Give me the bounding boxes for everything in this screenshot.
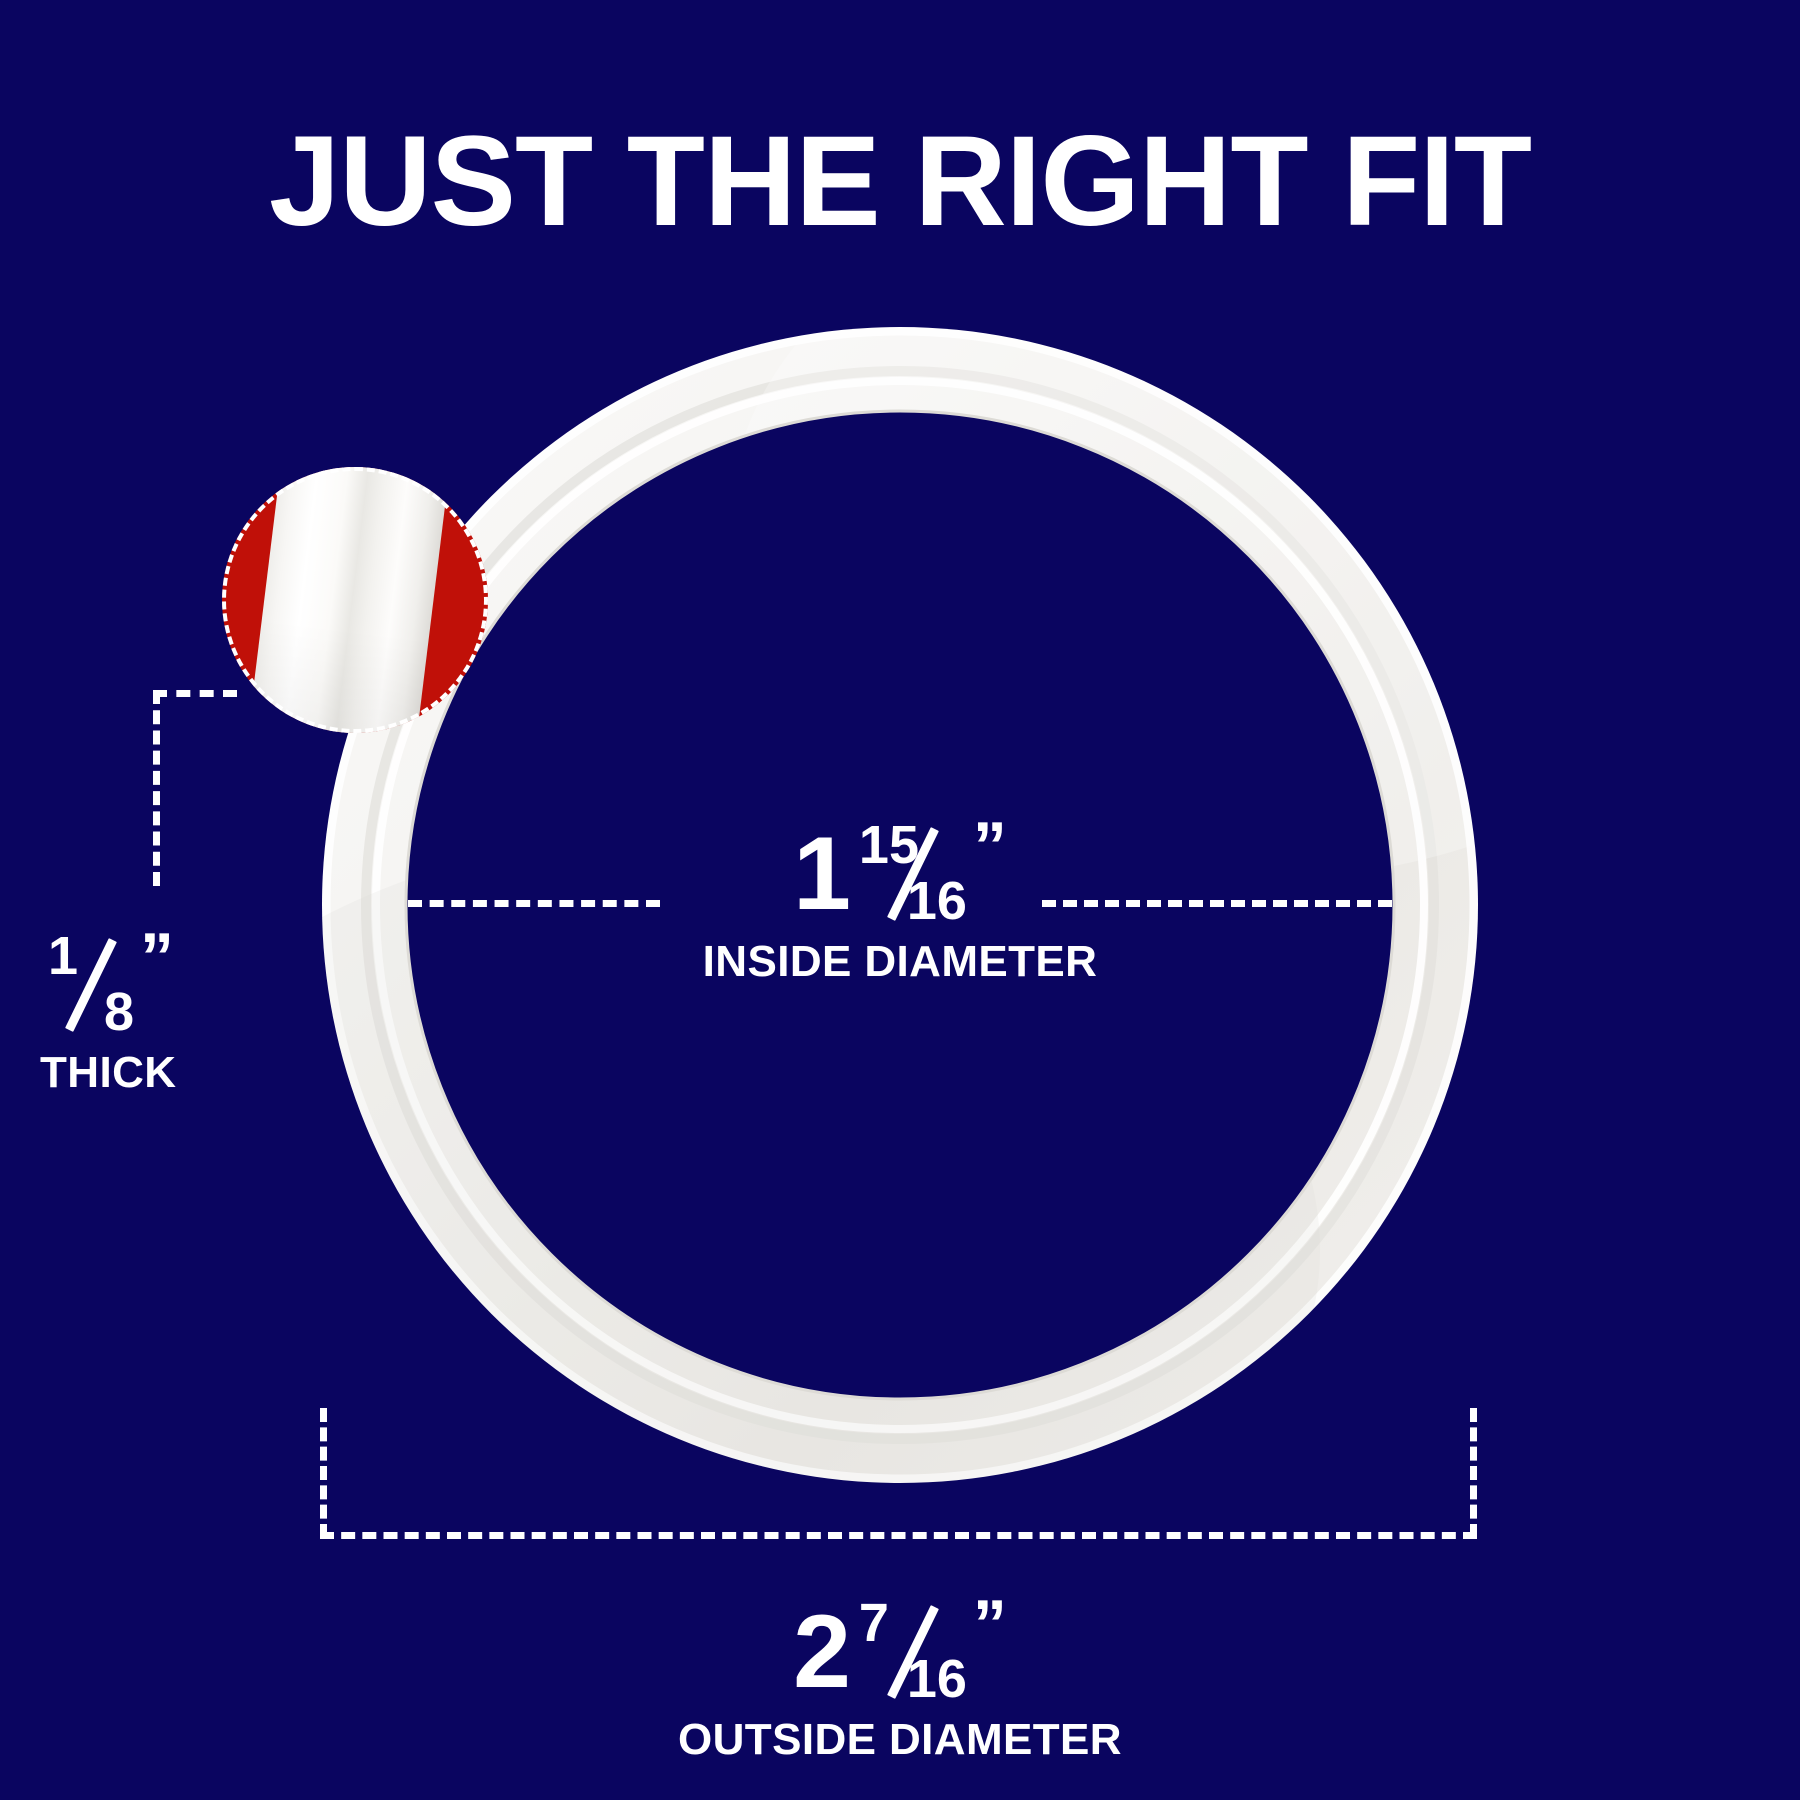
inside-diameter-line-left xyxy=(408,900,660,907)
outside-diameter-tick-left xyxy=(320,1408,327,1538)
outside-diameter-numerator: 7 xyxy=(859,1596,889,1650)
inside-diameter-fraction: 15 16 xyxy=(859,822,967,926)
thickness-denominator: 8 xyxy=(104,985,134,1039)
outside-diameter-caption: OUTSIDE DIAMETER xyxy=(560,1718,1240,1762)
inside-diameter-inch-mark: ” xyxy=(973,812,1007,880)
inside-diameter-label: 1 15 16 ” INSIDE DIAMETER xyxy=(660,822,1140,984)
outside-diameter-baseline xyxy=(320,1532,1477,1539)
inside-diameter-caption: INSIDE DIAMETER xyxy=(660,940,1140,984)
magnified-gasket-shading xyxy=(240,467,455,733)
magnifier-lens xyxy=(222,467,488,733)
outside-diameter-whole: 2 xyxy=(793,1600,851,1704)
thickness-inch-mark: ” xyxy=(140,923,174,991)
inside-diameter-whole: 1 xyxy=(793,822,851,926)
thickness-leader-horizontal xyxy=(153,690,237,697)
outside-diameter-inch-mark: ” xyxy=(973,1590,1007,1658)
outside-diameter-fraction: 7 16 xyxy=(859,1600,967,1704)
inside-diameter-denominator: 16 xyxy=(907,874,967,928)
inside-diameter-value: 1 15 16 ” xyxy=(793,822,1007,926)
thickness-value: 1 8 ” xyxy=(40,933,174,1037)
outside-diameter-tick-right xyxy=(1470,1408,1477,1538)
thickness-label: 1 8 ” THICK xyxy=(40,920,300,1095)
thickness-numerator: 1 xyxy=(48,929,78,983)
infographic-canvas: JUST THE RIGHT FIT xyxy=(0,0,1800,1800)
inside-diameter-numerator: 15 xyxy=(859,818,919,872)
outside-diameter-value: 2 7 16 ” xyxy=(793,1600,1007,1704)
thickness-fraction: 1 8 xyxy=(48,933,134,1037)
thickness-caption: THICK xyxy=(40,1051,300,1095)
outside-diameter-denominator: 16 xyxy=(907,1652,967,1706)
thickness-leader-vertical xyxy=(153,690,160,886)
outside-diameter-label: 2 7 16 ” OUTSIDE DIAMETER xyxy=(560,1600,1240,1762)
